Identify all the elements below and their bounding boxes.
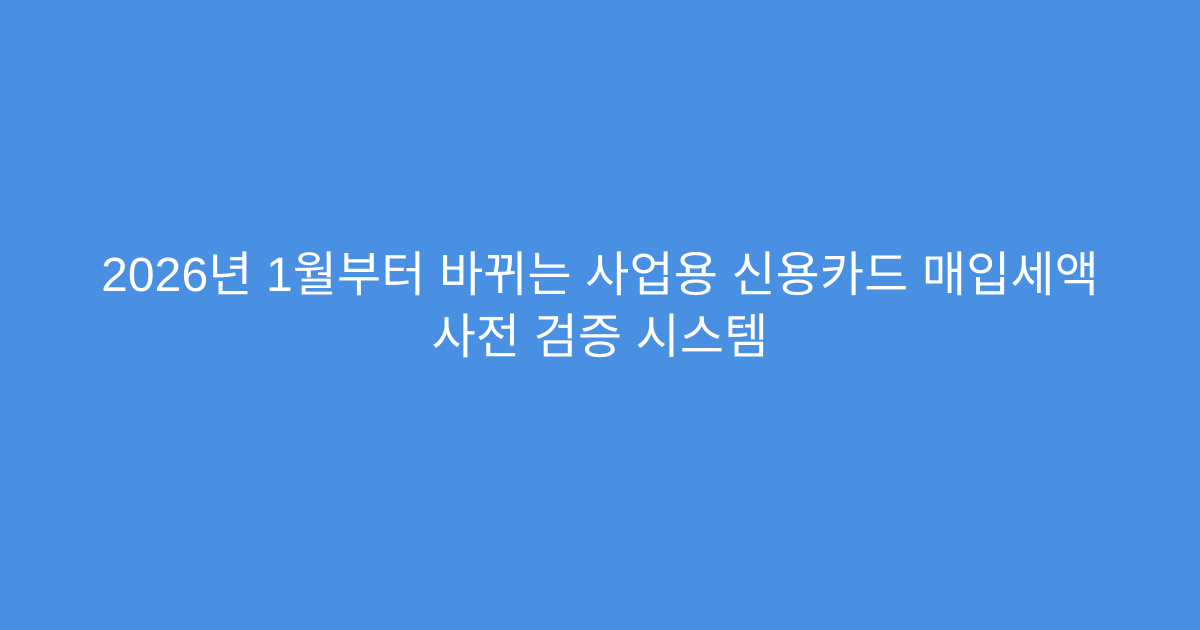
share-card: 2026년 1월부터 바뀌는 사업용 신용카드 매입세액 사전 검증 시스템 [0,0,1200,630]
title-line-2: 사전 검증 시스템 [40,307,1160,369]
page-title: 2026년 1월부터 바뀌는 사업용 신용카드 매입세액 사전 검증 시스템 [40,245,1160,369]
title-line-1: 2026년 1월부터 바뀌는 사업용 신용카드 매입세액 [40,245,1160,307]
